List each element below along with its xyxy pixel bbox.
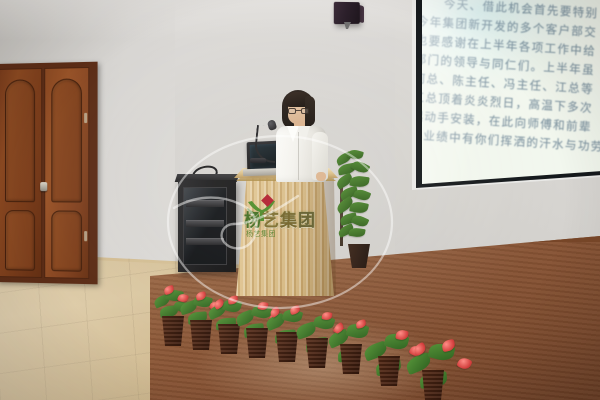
door-panel-lower <box>51 210 82 271</box>
rack-unit <box>186 220 224 227</box>
potted-floor-plant <box>336 150 388 270</box>
door-leaf-left[interactable] <box>0 68 42 278</box>
plant-pot <box>304 338 330 368</box>
logo-char: 团 <box>298 211 316 231</box>
presenter <box>272 88 332 180</box>
logo-char: 杨 <box>244 211 262 231</box>
rack-unit <box>186 200 224 207</box>
wooden-double-door[interactable] <box>0 62 98 285</box>
door-panel-lower <box>5 210 35 271</box>
rack-unit <box>186 238 224 245</box>
plant-foliage <box>336 150 388 246</box>
door-panel-upper <box>5 79 35 202</box>
screen-surface: 今天、借此机会首先要特别 今年集团新开发的多个客户部交 也要感谢在上半年各项工作… <box>420 0 600 188</box>
wall-speaker-icon <box>334 2 360 24</box>
door-hinge-icon <box>84 231 87 241</box>
hand <box>316 172 326 181</box>
av-equipment-rack[interactable] <box>178 180 236 272</box>
projected-slide-text: 今天、借此机会首先要特别 今年集团新开发的多个客户部交 也要感谢在上半年各项工作… <box>420 0 600 159</box>
microphone-base <box>250 158 266 163</box>
projection-screen[interactable]: 今天、借此机会首先要特别 今年集团新开发的多个客户部交 也要感谢在上半年各项工作… <box>404 0 600 220</box>
anthurium-planter-row <box>150 282 470 400</box>
door-handle[interactable] <box>40 182 47 191</box>
plant-pot <box>346 244 372 268</box>
logo-subtext: 杨艺集团 <box>246 229 276 239</box>
photo-scene: 今天、借此机会首先要特别 今年集团新开发的多个客户部交 也要感谢在上半年各项工作… <box>0 0 600 400</box>
lens-left <box>288 108 296 114</box>
door-leaf-right[interactable] <box>44 67 89 279</box>
door-hinge-icon <box>84 113 87 123</box>
door-panel-upper <box>51 78 82 202</box>
shirt-placket <box>298 132 299 180</box>
logo-char: 艺 <box>262 211 280 231</box>
logo-char: 集 <box>280 211 298 231</box>
plant-pot <box>338 344 364 374</box>
eyeglasses-icon <box>288 108 310 114</box>
company-logo: 杨艺集团 杨艺集团 <box>244 196 330 248</box>
lens-right <box>301 108 309 114</box>
